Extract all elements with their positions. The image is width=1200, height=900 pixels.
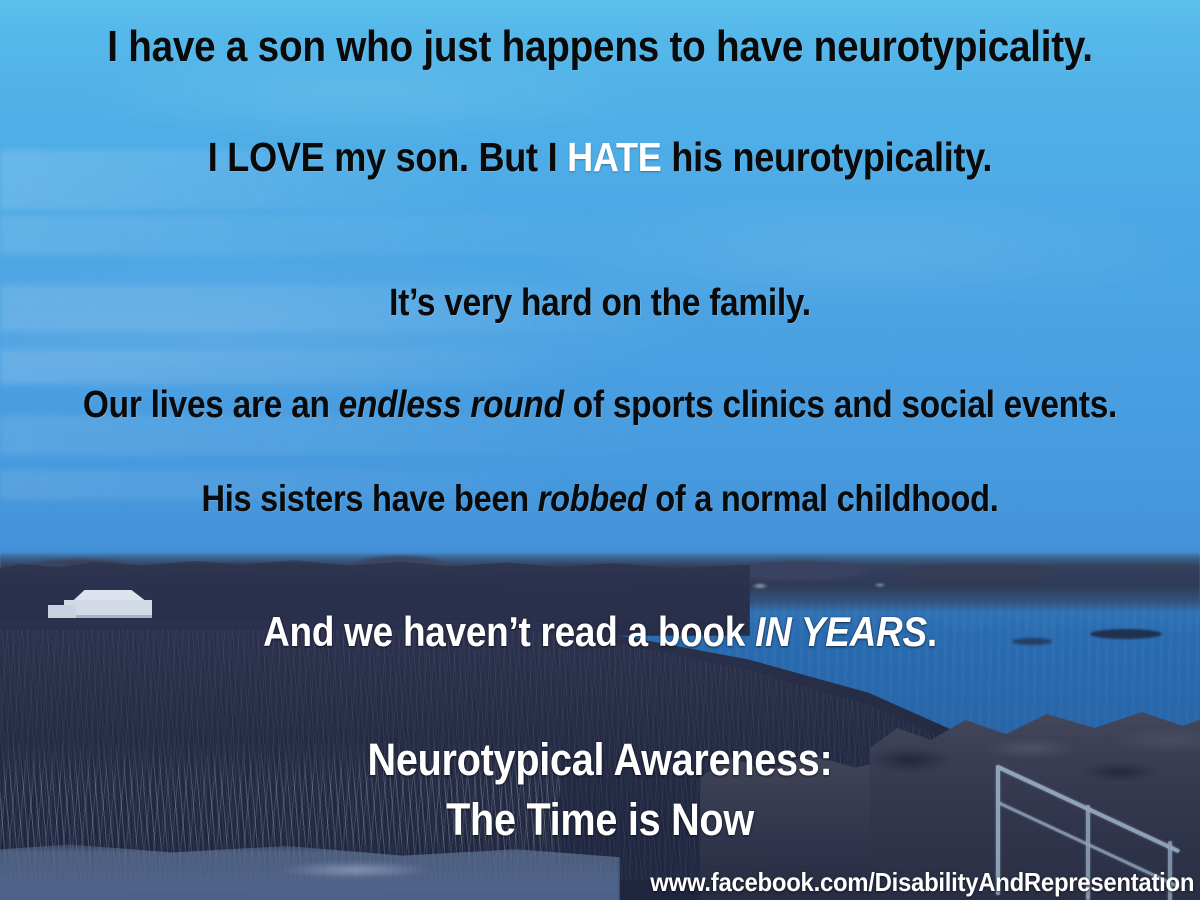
caption-line-6-suffix: . (927, 608, 937, 655)
caption-line-4: Our lives are an endless round of sports… (72, 384, 1128, 427)
headline-line-1: Neurotypical Awareness: (72, 734, 1128, 786)
caption-line-3: It’s very hard on the family. (72, 282, 1128, 325)
caption-line-6: And we haven’t read a book IN YEARS. (72, 608, 1128, 656)
headline-line-2: The Time is Now (72, 794, 1128, 846)
caption-line-5-prefix: His sisters have been (201, 478, 537, 519)
caption-line-2-highlight: HATE (567, 134, 661, 180)
caption-line-5: His sisters have been robbed of a normal… (72, 478, 1128, 520)
caption-line-2-prefix: I LOVE my son. But I (208, 134, 567, 180)
caption-line-5-suffix: of a normal childhood. (646, 478, 998, 519)
caption-line-3-text: It’s very hard on the family. (389, 282, 811, 324)
caption-line-5-italic: robbed (538, 478, 647, 519)
caption-line-6-prefix: And we haven’t read a book (263, 608, 755, 655)
caption-overlay: I have a son who just happens to have ne… (0, 0, 1200, 900)
facebook-url: www.facebook.com/DisabilityAndRepresenta… (650, 867, 1194, 898)
caption-line-1: I have a son who just happens to have ne… (72, 22, 1128, 72)
caption-line-2-suffix: his neurotypicality. (662, 134, 993, 180)
caption-line-6-italic: IN YEARS (755, 608, 927, 655)
caption-line-2: I LOVE my son. But I HATE his neurotypic… (72, 134, 1128, 181)
caption-line-4-italic: endless round (339, 384, 564, 426)
meme-image: I have a son who just happens to have ne… (0, 0, 1200, 900)
caption-line-4-suffix: of sports clinics and social events. (564, 384, 1117, 426)
caption-line-1-text: I have a son who just happens to have ne… (107, 22, 1093, 71)
caption-line-4-prefix: Our lives are an (83, 384, 339, 426)
